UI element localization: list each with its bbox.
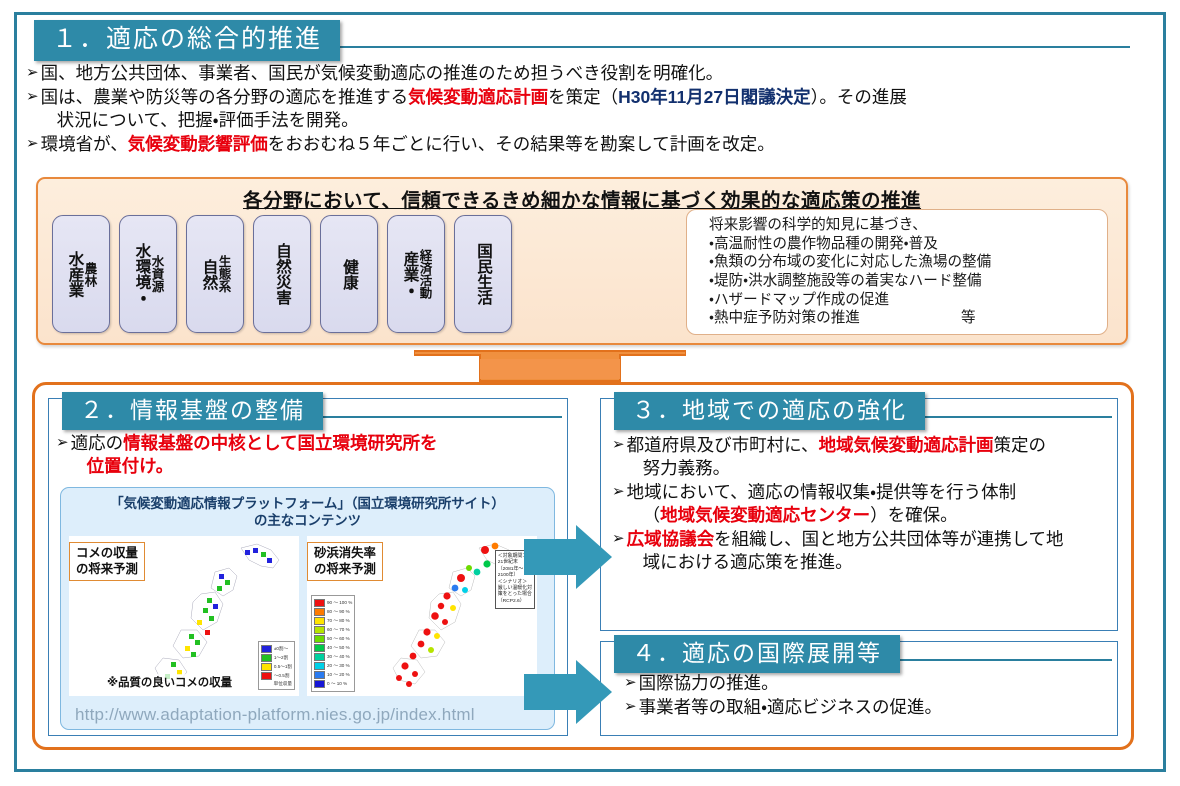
legend-label: 1〜2割 [274, 656, 288, 661]
legend-swatch [261, 645, 272, 653]
platform-url[interactable]: http://www.adaptation-platform.nies.go.j… [75, 705, 475, 725]
legend-row: 90 〜 100 % [314, 599, 352, 607]
legend-row: 1〜2割 [261, 654, 292, 662]
emphasis-red: 情報基盤の中核として国立環境研究所を [123, 433, 437, 453]
map-thumbnails: コメの収量 の将来予測 [69, 536, 537, 696]
bullet-text: 国際協力の推進。 [639, 672, 1104, 695]
text-run: 事業者等の取組・適応ビジネスの促進。 [639, 697, 942, 717]
field-chip: 水産業農林 [52, 215, 110, 333]
legend-label: 40 〜 50 % [327, 646, 350, 651]
legend-label: 0 〜 10 % [327, 682, 347, 687]
text-run: 国は、農業や防災等の各分野の適応を推進する [41, 87, 409, 107]
platform-title-line2: の主なコンテンツ [61, 512, 554, 529]
section-3-rule [900, 416, 1112, 418]
bullet-text: 環境省が、気候変動影響評価をおおむね５年ごとに行い、その結果等を勘案して計画を改… [41, 133, 1144, 156]
emphasis-red: 地域気候変動適応計画 [819, 435, 994, 455]
measures-note: 将来影響の科学的知見に基づき、・高温耐性の農作物品種の開発・普及・魚類の分布域の… [686, 209, 1108, 335]
text-run: をおおむね５年ごとに行い、その結果等を勘案して計画を改定。 [268, 134, 775, 154]
legend-swatch [314, 662, 325, 670]
bullet-item: ➢適応の情報基盤の中核として国立環境研究所を位置付け。 [56, 432, 556, 478]
legend-swatch [261, 654, 272, 662]
legend-label: 30 〜 40 % [327, 655, 350, 660]
bullet-item: ➢広域協議会を組織し、国と地方公共団体等が連携して地域における適応策を推進。 [612, 528, 1110, 574]
section-2-heading: ２．情報基盤の整備 [62, 392, 323, 430]
measures-note-line: ・魚類の分布域の変化に対応した漁場の整備 [709, 253, 1099, 272]
legend-swatch [314, 671, 325, 679]
bullet-text: 適応の情報基盤の中核として国立環境研究所を位置付け。 [71, 432, 556, 478]
text-run: 国際協力の推進。 [639, 673, 779, 693]
measures-note-line: ・堤防・洪水調整施設等の着実なハード整備 [709, 272, 1099, 291]
text-run: 国、地方公共団体、事業者、国民が気候変動適応の推進のため担うべき役割を明確化。 [41, 63, 724, 83]
bullet-text: 都道府県及び市町村に、地域気候変動適応計画策定の努力義務。 [627, 434, 1110, 480]
section-2-rule [296, 416, 562, 418]
map-caption-rice: ※品質の良いコメの収量 [107, 674, 232, 690]
legend-label: 60 〜 70 % [327, 628, 350, 633]
scenario-note-line: （RCP2.6） [498, 599, 532, 605]
field-chip-row: 水産業農林水環境・水資源自然生態系自然災害健康産業・経済活動国民生活 [52, 215, 512, 333]
measures-note-etc: 等 [961, 309, 976, 328]
bullet-text: 広域協議会を組織し、国と地方公共団体等が連携して地域における適応策を推進。 [627, 528, 1110, 574]
bullet-marker-icon: ➢ [56, 432, 69, 454]
section-3-bullet-list: ➢都道府県及び市町村に、地域気候変動適応計画策定の努力義務。➢地域において、適応… [612, 434, 1110, 576]
text-run: 適応の [71, 433, 124, 453]
platform-title-line1: 「気候変動適応情報プラットフォーム」（国立環境研究所サイト） [61, 495, 554, 512]
bullet-continuation: 努力義務。 [627, 457, 1110, 480]
bullet-item: ➢地域において、適応の情報収集・提供等を行う体制（地域気候変動適応センター）を確… [612, 481, 1110, 527]
bullet-marker-icon: ➢ [612, 528, 625, 550]
legend-row: 60 〜 70 % [314, 626, 352, 634]
text-run: 環境省が、 [41, 134, 128, 154]
bullet-item: ➢事業者等の取組・適応ビジネスの促進。 [624, 696, 1104, 719]
field-chip-main: 自然災害 [274, 243, 290, 305]
field-chip-main: 水産業 [66, 251, 82, 298]
legend-label: 90 〜 100 % [327, 601, 352, 606]
bullet-continuation: （地域気候変動適応センター）を確保。 [627, 504, 1110, 527]
arrow-to-section-3 [524, 525, 612, 589]
scenario-note-line: 策をとった場合 [498, 592, 532, 598]
bullet-item: ➢環境省が、気候変動影響評価をおおむね５年ごとに行い、その結果等を勘案して計画を… [26, 133, 1144, 156]
measures-note-lines: 将来影響の科学的知見に基づき、・高温耐性の農作物品種の開発・普及・魚類の分布域の… [709, 216, 1099, 328]
legend-label: 10 〜 20 % [327, 673, 350, 678]
legend-swatch [261, 672, 272, 680]
legend-label: 〜0.5割 [274, 674, 290, 679]
field-chip-sub: 経済活動 [418, 249, 431, 299]
map-card-beach: 砂浜消失率 の将来予測 [307, 536, 537, 696]
bullet-marker-icon: ➢ [26, 62, 39, 84]
bullet-text: 地域において、適応の情報収集・提供等を行う体制（地域気候変動適応センター）を確保… [627, 481, 1110, 527]
adaptation-fields-panel: 各分野において、信頼できるきめ細かな情報に基づく効果的な適応策の推進 水産業農林… [36, 177, 1128, 345]
field-chip-sub: 水資源 [150, 255, 163, 293]
legend-swatch [314, 653, 325, 661]
section-4-rule [880, 659, 1112, 661]
field-chip: 自然災害 [253, 215, 311, 333]
legend-row: 0 〜 10 % [314, 680, 352, 688]
measures-note-line: ・ハザードマップ作成の促進 [709, 291, 1099, 310]
field-chip: 健康 [320, 215, 378, 333]
map-label-rice: コメの収量 の将来予測 [69, 542, 145, 581]
field-chip-main: 自然 [200, 259, 216, 290]
legend-swatch [314, 680, 325, 688]
legend-swatch [314, 635, 325, 643]
emphasis-red: 気候変動適応計画 [408, 87, 548, 107]
section-1-bullet-list: ➢国、地方公共団体、事業者、国民が気候変動適応の推進のため担うべき役割を明確化。… [26, 62, 1144, 157]
bullet-item: ➢国は、農業や防災等の各分野の適応を推進する気候変動適応計画を策定（H30年11… [26, 86, 1144, 132]
bullet-item: ➢国際協力の推進。 [624, 672, 1104, 695]
text-run: ）を確保。 [870, 505, 958, 525]
legend-beach: 90 〜 100 %80 〜 90 %70 〜 80 %60 〜 70 %50 … [311, 595, 355, 692]
field-chip: 自然生態系 [186, 215, 244, 333]
bullet-item: ➢国、地方公共団体、事業者、国民が気候変動適応の推進のため担うべき役割を明確化。 [26, 62, 1144, 85]
bullet-text: 国は、農業や防災等の各分野の適応を推進する気候変動適応計画を策定（H30年11月… [41, 86, 1144, 132]
emphasis-red: 気候変動影響評価 [128, 134, 268, 154]
legend-row: 80 〜 90 % [314, 608, 352, 616]
text-run: 地域において、適応の情報収集・提供等を行う体制 [627, 482, 1017, 502]
legend-label: 50 〜 60 % [327, 637, 350, 642]
text-run: を策定（ [548, 87, 618, 107]
bullet-marker-icon: ➢ [624, 672, 637, 694]
slide-canvas: １．適応の総合的推進 ➢国、地方公共団体、事業者、国民が気候変動適応の推進のため… [0, 0, 1180, 786]
text-run: 都道府県及び市町村に、 [627, 435, 819, 455]
field-chip-sub: 農林 [83, 262, 96, 287]
measures-note-line: ・熱中症予防対策の推進等 [709, 309, 1099, 328]
bullet-marker-icon: ➢ [26, 86, 39, 108]
field-chip-main: 健康 [341, 259, 357, 290]
orange-down-arrow [414, 349, 686, 383]
bullet-marker-icon: ➢ [612, 481, 625, 503]
bullet-text: 事業者等の取組・適応ビジネスの促進。 [639, 696, 1104, 719]
bullet-marker-icon: ➢ [624, 696, 637, 718]
section-1-rule [330, 46, 1130, 48]
legend-row: 〜0.5割 [261, 672, 292, 680]
legend-swatch [314, 644, 325, 652]
measures-note-line: ・高温耐性の農作物品種の開発・普及 [709, 235, 1099, 254]
section-3-heading: ３．地域での適応の強化 [614, 392, 925, 430]
bullet-marker-icon: ➢ [612, 434, 625, 456]
legend-swatch [314, 626, 325, 634]
bullet-marker-icon: ➢ [26, 133, 39, 155]
field-chip-sub: 生態系 [217, 255, 230, 293]
legend-label: 80 〜 90 % [327, 610, 350, 615]
legend-swatch [314, 617, 325, 625]
legend-swatch [314, 608, 325, 616]
bullet-continuation: 位置付け。 [71, 455, 556, 478]
section-4-heading: ４．適応の国際展開等 [614, 635, 900, 673]
map-label-beach: 砂浜消失率 の将来予測 [307, 542, 383, 581]
section-1-heading: １．適応の総合的推進 [34, 20, 340, 61]
arrow-to-section-4 [524, 660, 612, 724]
field-chip-main: 水環境・ [133, 243, 149, 305]
emphasis-navy: H30年11月27日閣議決定 [618, 87, 811, 107]
legend-rice-footer: 単位収量 [261, 681, 292, 687]
bullet-item: ➢都道府県及び市町村に、地域気候変動適応計画策定の努力義務。 [612, 434, 1110, 480]
legend-row: 30 〜 40 % [314, 653, 352, 661]
field-chip: 水環境・水資源 [119, 215, 177, 333]
section-2-bullet-list: ➢適応の情報基盤の中核として国立環境研究所を位置付け。 [56, 432, 556, 479]
section-4-bullet-list: ➢国際協力の推進。➢事業者等の取組・適応ビジネスの促進。 [624, 672, 1104, 720]
field-chip-main: 国民生活 [475, 243, 491, 305]
field-chip: 国民生活 [454, 215, 512, 333]
platform-card: 「気候変動適応情報プラットフォーム」（国立環境研究所サイト） の主なコンテンツ … [60, 487, 555, 730]
legend-row: 50 〜 60 % [314, 635, 352, 643]
legend-rice: ±0割〜1〜2割0.5〜1割〜0.5割 単位収量 [258, 641, 295, 690]
legend-swatch [314, 599, 325, 607]
legend-row: 70 〜 80 % [314, 617, 352, 625]
legend-row: ±0割〜 [261, 645, 292, 653]
legend-row: 40 〜 50 % [314, 644, 352, 652]
text-run: を組織し、国と地方公共団体等が連携して地 [714, 529, 1063, 549]
emphasis-red: 地域気候変動適応センター [660, 505, 870, 525]
legend-row: 0.5〜1割 [261, 663, 292, 671]
legend-swatch [261, 663, 272, 671]
map-card-rice: コメの収量 の将来予測 [69, 536, 299, 696]
legend-label: 70 〜 80 % [327, 619, 350, 624]
bullet-continuation: 域における適応策を推進。 [627, 551, 1110, 574]
text-run: 策定の [994, 435, 1047, 455]
legend-label: 0.5〜1割 [274, 665, 292, 670]
legend-label: ±0割〜 [274, 647, 288, 652]
bullet-continuation: 状況について、把握・評価手法を開発。 [41, 109, 1144, 132]
bullet-text: 国、地方公共団体、事業者、国民が気候変動適応の推進のため担うべき役割を明確化。 [41, 62, 1144, 85]
legend-row: 20 〜 30 % [314, 662, 352, 670]
legend-label: 20 〜 30 % [327, 664, 350, 669]
legend-row: 10 〜 20 % [314, 671, 352, 679]
text-run: （ [643, 505, 661, 525]
emphasis-red: 広域協議会 [627, 529, 715, 549]
field-chip: 産業・経済活動 [387, 215, 445, 333]
measures-note-line: 将来影響の科学的知見に基づき、 [709, 216, 1099, 235]
text-run: ）。その進展 [811, 87, 907, 107]
field-chip-main: 産業・ [401, 251, 417, 298]
